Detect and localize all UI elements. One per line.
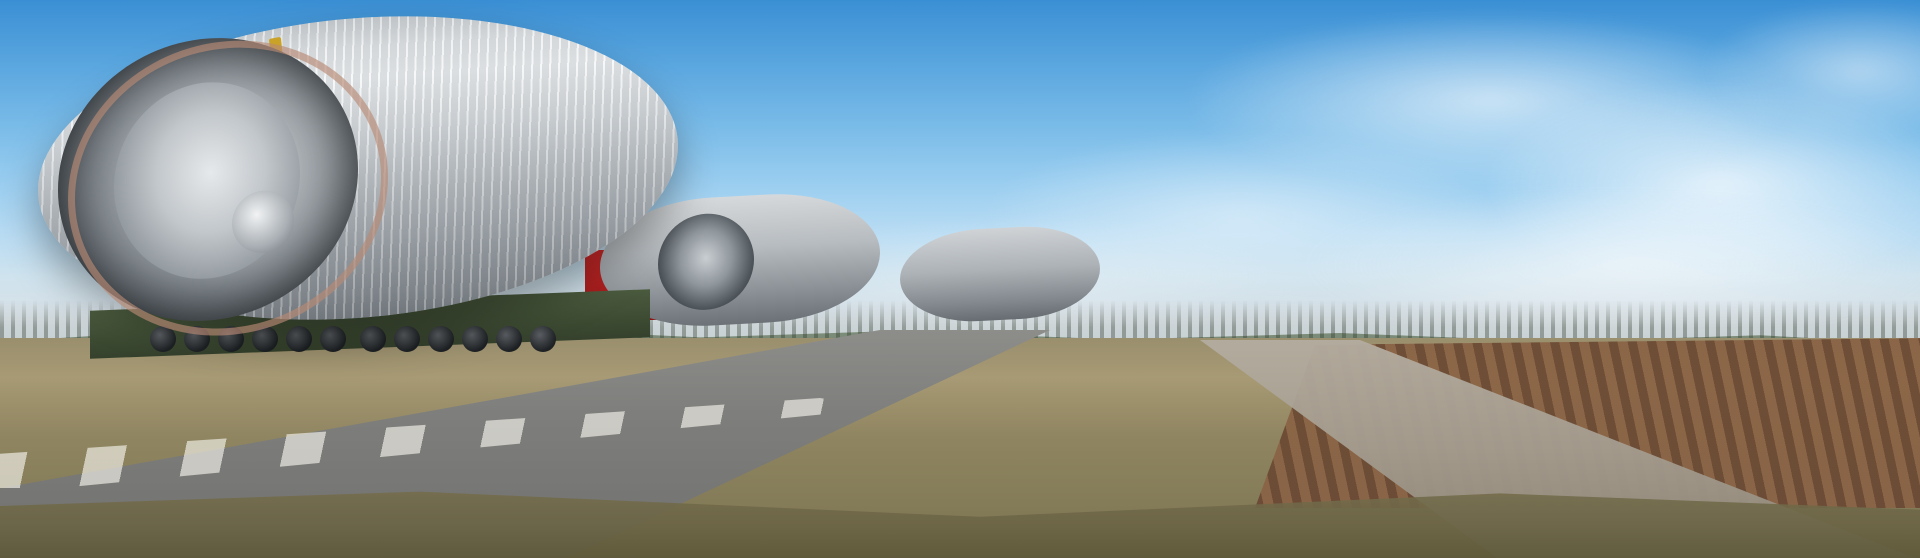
promo-banner: 6.9元/公里 超低运价覆盖山东 500辆车＊24小时场站待命 一通电话 即刻背… bbox=[0, 0, 1920, 558]
background-photo bbox=[0, 0, 1920, 558]
cylinder-opening bbox=[940, 240, 1008, 312]
cylinder-opening bbox=[658, 211, 754, 312]
